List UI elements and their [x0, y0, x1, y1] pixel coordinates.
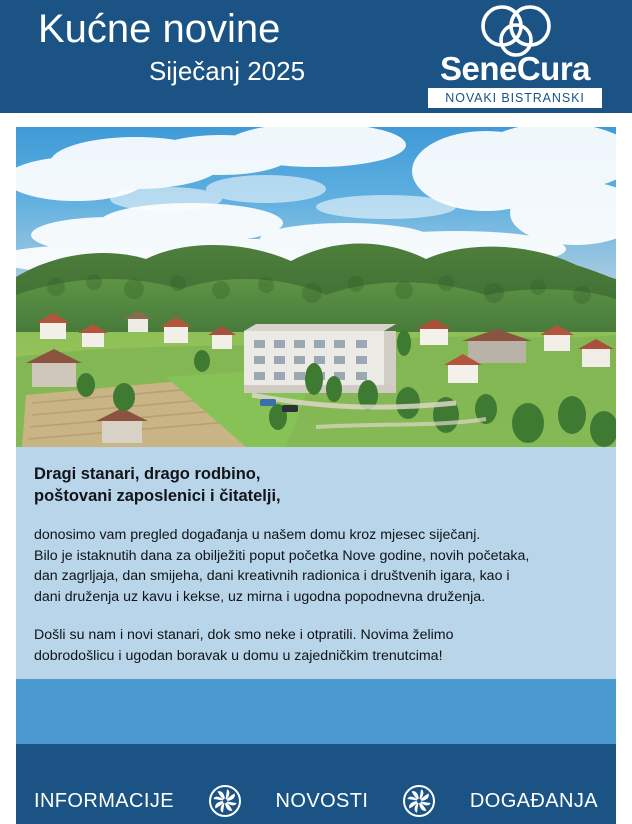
header-bar: Kućne novine Siječanj 2025 SeneCura NOVA… — [0, 0, 632, 113]
page-title: Kućne novine — [38, 4, 398, 54]
intro-paragraph-1: donosimo vam pregled događanja u našem d… — [34, 525, 598, 607]
issue-date: Siječanj 2025 — [38, 54, 398, 88]
footer-nav-bar: INFORMACIJE — [16, 744, 616, 824]
footer-link-novosti[interactable]: NOVOSTI — [276, 789, 369, 813]
intro-heading: Dragi stanari, drago rodbino, poštovani … — [34, 463, 598, 507]
pinwheel-swirl-icon-2 — [402, 784, 436, 818]
intro-p1-line-3: dan zagrljaja, dan smijeha, dani kreativ… — [34, 568, 510, 584]
intro-body: donosimo vam pregled događanja u našem d… — [34, 525, 598, 666]
intro-p2-line-1: Došli su nam i novi stanari, dok smo nek… — [34, 627, 453, 643]
intro-p2-line-2: dobrodošlicu i ugodan boravak u domu u z… — [34, 648, 443, 664]
intro-p1-line-4: dani druženja uz kavu i kekse, uz mirna … — [34, 589, 485, 605]
intro-p1-line-1: donosimo vam pregled događanja u našem d… — [34, 527, 480, 543]
intro-text-box: Dragi stanari, drago rodbino, poštovani … — [16, 447, 616, 679]
footer-link-informacije[interactable]: INFORMACIJE — [34, 789, 174, 813]
footer-nav-inner: INFORMACIJE — [34, 750, 598, 818]
hero-photo — [16, 127, 616, 447]
footer-link-dogadanja[interactable]: DOGAĐANJA — [470, 789, 598, 813]
intro-p1-line-2: Bilo je istaknutih dana za obilježiti po… — [34, 548, 529, 564]
logo-location-band: NOVAKI BISTRANSKI — [428, 88, 602, 108]
pinwheel-swirl-icon — [208, 784, 242, 818]
masthead: Kućne novine Siječanj 2025 — [38, 4, 398, 88]
intro-heading-line-2: poštovani zaposlenici i čitatelji, — [34, 485, 598, 507]
intro-paragraph-2: Došli su nam i novi stanari, dok smo nek… — [34, 625, 598, 666]
newsletter-page: Kućne novine Siječanj 2025 SeneCura NOVA… — [0, 0, 632, 824]
logo-wordmark: SeneCura — [420, 52, 610, 86]
paragraph-spacer — [34, 607, 598, 625]
intro-heading-line-1: Dragi stanari, drago rodbino, — [34, 463, 598, 485]
senecura-logo: SeneCura NOVAKI BISTRANSKI — [420, 4, 610, 108]
accent-band — [16, 679, 616, 744]
